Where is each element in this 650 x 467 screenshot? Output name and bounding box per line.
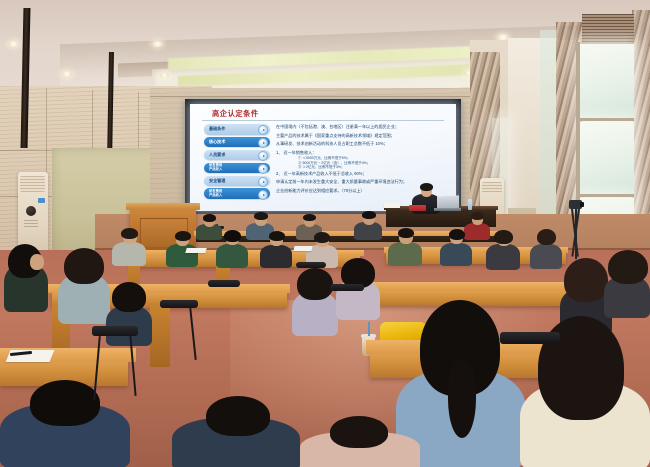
notebook xyxy=(185,248,207,253)
person-torso xyxy=(530,244,562,269)
downlight xyxy=(62,71,72,77)
sidebar-item-label-line2: 产品收入 xyxy=(209,168,222,172)
slide-sidebar: 基础条件 核心技术 人员要求 研发费用 产品收入 安全管理 xyxy=(204,124,270,201)
person-torso xyxy=(388,242,422,266)
audience-person-r2-9 xyxy=(530,229,562,267)
speaker-nameplate xyxy=(409,205,426,211)
chair xyxy=(208,280,240,287)
water-bottle xyxy=(468,199,472,210)
chevron-right-icon xyxy=(258,138,268,148)
audience-person-r2-4 xyxy=(260,231,292,266)
slide-sidebar-item-2[interactable]: 人员要求 xyxy=(204,150,270,161)
person-hair xyxy=(314,232,330,243)
window-blind xyxy=(582,14,634,44)
slide-body-item-2: 2、 近一年高新技术产品收入不低于总收入 60%； xyxy=(276,171,446,176)
person-hair xyxy=(362,211,376,219)
lecture-hall-photo: 高企认定条件 基础条件 核心技术 人员要求 研发费用 产品收入 xyxy=(0,0,650,467)
chair xyxy=(330,284,364,291)
audience-person-r2-8 xyxy=(486,230,520,268)
downlight xyxy=(8,41,19,47)
chair xyxy=(92,326,138,336)
downlight xyxy=(160,73,169,78)
downlight xyxy=(152,41,163,47)
window-pane xyxy=(580,122,634,194)
chevron-right-icon xyxy=(258,125,268,135)
person-hair xyxy=(121,228,138,239)
chair xyxy=(296,262,326,268)
desk-row-3-right-top xyxy=(356,282,594,291)
slide-sidebar-item-0[interactable]: 基础条件 xyxy=(204,124,270,135)
person-hair xyxy=(449,229,465,240)
air-conditioner-vent xyxy=(20,176,45,192)
air-conditioner-knob xyxy=(26,206,36,216)
person-torso xyxy=(440,243,472,266)
person-hair xyxy=(330,416,388,448)
chevron-right-icon xyxy=(258,177,268,187)
person-hair xyxy=(206,396,270,436)
person-hair xyxy=(64,248,104,284)
person-hair xyxy=(564,258,608,302)
person-hair xyxy=(608,250,648,284)
sidebar-item-label: 人员要求 xyxy=(209,153,225,157)
slide-sidebar-item-3[interactable]: 研发费用 产品收入 xyxy=(204,163,270,174)
slide-body-item-1-sub-3: ③ ＞2亿元，比例不低于3%； xyxy=(298,165,446,169)
ponytail xyxy=(448,360,476,438)
audience-person-near-1 xyxy=(0,380,130,467)
document-stack xyxy=(384,203,400,208)
sidebar-item-label: 核心技术 xyxy=(209,140,225,144)
laptop-base xyxy=(434,208,461,211)
person-hair xyxy=(303,214,316,221)
camera-lens-icon xyxy=(580,202,584,207)
audience-person-r2-3 xyxy=(216,230,248,266)
person-hair xyxy=(269,231,285,241)
window-pane xyxy=(580,44,634,118)
slide-body-item-1: 1、 近一年销售收入： xyxy=(276,150,446,155)
slide-title-divider xyxy=(202,120,444,121)
slide-sidebar-item-1[interactable]: 核心技术 xyxy=(204,137,270,148)
chair xyxy=(160,300,198,308)
person-hair xyxy=(494,230,513,244)
person-hair xyxy=(30,380,100,426)
window-mullion xyxy=(580,194,634,197)
person-hair xyxy=(537,229,556,245)
sidebar-item-label: 基础条件 xyxy=(209,127,225,131)
air-conditioner-display xyxy=(38,198,45,203)
chevron-right-icon xyxy=(258,164,268,174)
slide-title: 高企认定条件 xyxy=(212,109,259,119)
chevron-right-icon xyxy=(258,151,268,161)
audience-person-near-4 xyxy=(172,396,300,467)
person-torso xyxy=(112,242,146,266)
audience-person-r2-1 xyxy=(112,228,146,264)
person-hair xyxy=(471,212,484,220)
drink-straw xyxy=(368,322,370,336)
sidebar-item-label-line2: 产品收入 xyxy=(209,194,222,198)
person-hair xyxy=(112,282,146,312)
air-conditioner-brand-label xyxy=(24,220,38,228)
person-hair xyxy=(297,268,333,300)
slide-body-line-1: 在中国境内（不包括港、澳、台地区）注册满一年以上的居民企业； xyxy=(276,124,446,129)
slide-body-line-2: 主要产品的技术属于《国家重点支持的高新技术领域》规定范围； xyxy=(276,133,446,138)
person-hair xyxy=(398,228,414,238)
audience-person-r2-6 xyxy=(388,228,422,264)
person-hair xyxy=(203,214,216,222)
audience-person-r3-7 xyxy=(604,250,650,312)
sidebar-item-label: 安全管理 xyxy=(209,179,225,183)
audience-person-r2-7 xyxy=(440,229,472,264)
speaker-hair xyxy=(420,183,433,191)
chair xyxy=(500,332,560,344)
person-hair xyxy=(175,231,191,241)
desk-row-3-leg xyxy=(150,305,170,367)
audience-person-r3-2 xyxy=(58,248,110,320)
air-conditioner-vent-right xyxy=(482,182,502,194)
slide-sidebar-item-4[interactable]: 安全管理 xyxy=(204,176,270,187)
person-torso xyxy=(260,245,292,268)
person-torso xyxy=(486,244,520,270)
audience-person-near-5 xyxy=(300,416,420,467)
audience-person-r3-1 xyxy=(4,244,48,310)
chevron-right-icon xyxy=(258,190,268,200)
person-hair xyxy=(224,230,241,242)
audience-person-far-4 xyxy=(354,211,382,238)
audience-person-r3-4 xyxy=(292,268,338,330)
slide-body-line-3: 从事研发、技术创新活动的科技人员占职工总数不低于 10%； xyxy=(276,141,446,146)
window-mullion xyxy=(580,118,634,121)
speaker-torso xyxy=(412,194,440,214)
person-head xyxy=(30,254,44,270)
person-hair xyxy=(254,212,268,220)
slide-sidebar-item-5[interactable]: 研发费用 产品收入 xyxy=(204,188,270,199)
person-torso xyxy=(216,244,248,268)
notebook xyxy=(293,246,312,251)
lectern-top xyxy=(126,203,200,210)
